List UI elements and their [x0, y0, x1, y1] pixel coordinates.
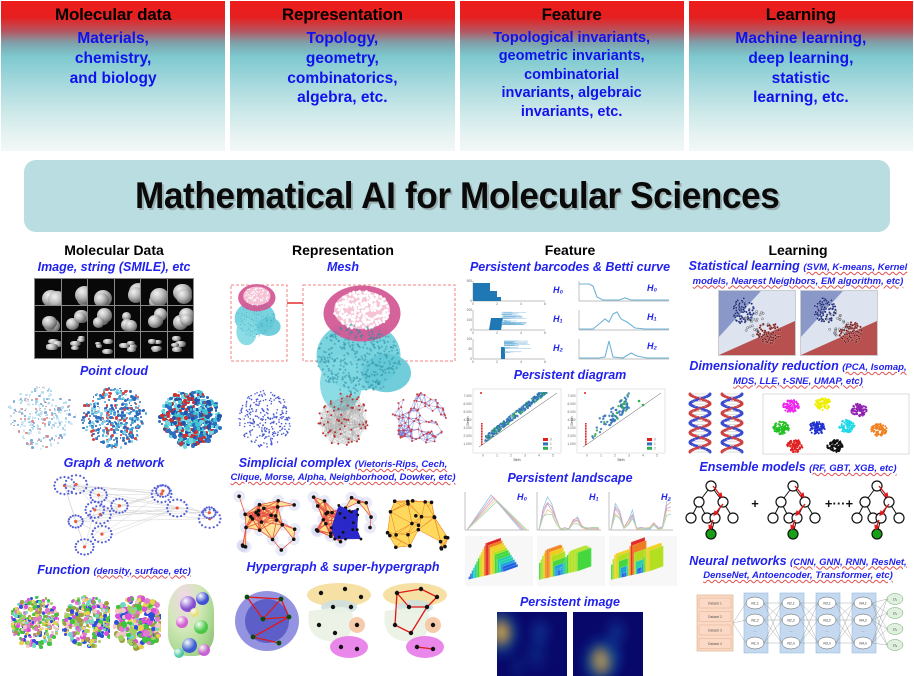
- point-cloud-atom: [44, 437, 46, 439]
- point-cloud-atom: [31, 399, 33, 401]
- point-cloud-atom: [15, 411, 17, 413]
- point-cloud-atom: [51, 418, 53, 420]
- point-cloud-atom: [38, 601, 40, 603]
- point-cloud-atom: [189, 439, 194, 444]
- function-surface-spot: [176, 616, 188, 628]
- point-cloud-atom: [199, 435, 202, 438]
- point-cloud-atom: [65, 401, 67, 403]
- point-cloud-atom: [99, 602, 103, 606]
- point-cloud-atom: [52, 399, 53, 400]
- point-cloud-atom: [32, 404, 34, 406]
- point-cloud-atom: [124, 442, 127, 445]
- point-cloud-atom: [51, 611, 53, 613]
- point-cloud-atom: [124, 390, 127, 393]
- point-cloud-atom: [137, 605, 142, 610]
- point-cloud-atom: [50, 390, 52, 392]
- dim-reduction-svg: [683, 390, 913, 458]
- point-cloud-atom: [84, 629, 88, 633]
- point-cloud-atom: [185, 425, 189, 429]
- point-cloud-atom: [102, 441, 105, 444]
- column-representation: Representation Mesh Graph Simplicial com…: [228, 240, 458, 676]
- point-cloud-atom: [82, 422, 84, 424]
- point-cloud-atom: [39, 387, 40, 388]
- point-cloud-atom: [113, 398, 115, 400]
- point-cloud-atom: [61, 436, 63, 438]
- point-cloud-atom: [47, 403, 49, 405]
- point-cloud-atom: [89, 403, 92, 406]
- section-label-ensemble-models: Ensemble models (RF, GBT, XGB, etc): [682, 459, 914, 476]
- point-cloud-atom: [91, 407, 94, 410]
- point-cloud-atom: [73, 416, 76, 419]
- point-cloud-atom: [98, 640, 101, 643]
- main-banner: Mathematical AI for Molecular Sciences: [24, 160, 890, 232]
- point-cloud-atom: [127, 606, 132, 611]
- section-label-persistent-landscape: Persistent landscape: [458, 470, 682, 486]
- point-cloud-atom: [108, 629, 109, 632]
- column-learning: Learning Statistical learning (SVM, K-me…: [682, 240, 914, 676]
- point-cloud-atom: [161, 410, 164, 413]
- point-cloud-atom: [21, 412, 23, 414]
- point-cloud-atom: [57, 407, 58, 408]
- point-cloud-atom: [135, 600, 139, 604]
- point-cloud-atom: [47, 642, 51, 646]
- page-title: Mathematical AI for Molecular Sciences: [135, 175, 780, 217]
- network-graph-svg: [2, 473, 226, 561]
- point-cloud-atom: [109, 411, 111, 413]
- point-cloud-atom: [115, 422, 117, 424]
- point-cloud-atom: [95, 614, 99, 618]
- point-cloud-atom: [44, 425, 46, 427]
- point-cloud-atom: [28, 444, 30, 446]
- point-cloud-atom: [58, 411, 60, 413]
- point-cloud-atom: [134, 437, 137, 440]
- point-cloud-atom: [118, 397, 121, 400]
- point-cloud-figures: [4, 381, 224, 453]
- point-cloud-atom: [197, 401, 200, 404]
- point-cloud-atom: [76, 637, 80, 641]
- point-cloud-atom: [38, 418, 40, 420]
- point-cloud-atom: [27, 403, 29, 405]
- point-cloud-atom: [42, 405, 44, 407]
- point-cloud-atom: [171, 411, 175, 415]
- point-cloud-atom: [33, 422, 35, 424]
- persistent-image-heatmap-1: [497, 612, 567, 676]
- function-figure-surface: [164, 580, 218, 660]
- point-cloud-atom: [20, 418, 22, 420]
- point-cloud-atom: [123, 398, 125, 400]
- point-cloud-atom: [35, 443, 38, 446]
- point-cloud-atom: [29, 424, 31, 426]
- column-feature: Feature Persistent barcodes & Betti curv…: [458, 240, 682, 676]
- function-figure-density-2: [62, 580, 110, 660]
- point-cloud-atom: [136, 425, 139, 428]
- point-cloud-atom: [103, 628, 106, 631]
- point-cloud-atom: [40, 412, 42, 414]
- point-cloud-atom: [120, 446, 123, 449]
- persistent-image-figures: [459, 612, 681, 676]
- section-label-simplicial-complex: Simplicial complex (Vietoris-Rips, Cech,…: [228, 456, 458, 484]
- point-cloud-atom: [102, 429, 105, 432]
- ensemble-svg: ++···+: [683, 478, 913, 554]
- point-cloud-atom: [128, 440, 130, 442]
- section-label-text: Persistent barcodes & Betti curve: [470, 260, 670, 274]
- svm-decision-boundary-svg: [719, 291, 795, 355]
- point-cloud-atom: [22, 615, 26, 619]
- point-cloud-atom: [121, 411, 124, 414]
- point-cloud-atom: [203, 431, 206, 434]
- point-cloud-atom: [108, 395, 111, 398]
- point-cloud-atom: [89, 415, 91, 417]
- point-cloud-atom: [93, 403, 95, 405]
- point-cloud-atom: [31, 446, 34, 449]
- point-cloud-atom: [64, 633, 67, 636]
- point-cloud-atom: [120, 437, 122, 439]
- point-cloud-atom: [104, 401, 106, 403]
- point-cloud-atom: [42, 445, 44, 447]
- molecular-image-cell: [168, 332, 194, 358]
- point-cloud-atom: [190, 393, 193, 396]
- point-cloud-atom: [126, 417, 128, 419]
- point-cloud-atom: [54, 422, 56, 424]
- point-cloud-atom: [86, 413, 89, 416]
- point-cloud-atom: [60, 409, 62, 411]
- molecular-image-cell: [141, 332, 167, 358]
- point-cloud-atom: [215, 409, 218, 412]
- point-cloud-atom: [98, 419, 100, 421]
- point-cloud-atom: [59, 398, 61, 400]
- point-cloud-atom: [150, 617, 154, 621]
- header-card-title: Molecular data: [1, 1, 225, 24]
- molecular-image-cell: [88, 332, 114, 358]
- section-label-hypergraph: Hypergraph & super-hypergraph: [228, 559, 458, 575]
- point-cloud-atom: [194, 415, 198, 419]
- point-cloud-atom: [138, 419, 140, 421]
- point-cloud-atom: [27, 400, 28, 401]
- point-cloud-atom: [108, 399, 110, 401]
- molecular-image-cell: [88, 279, 114, 305]
- point-cloud-medium: [78, 381, 150, 453]
- point-cloud-atom: [89, 617, 92, 620]
- point-cloud-atom: [86, 426, 88, 428]
- point-cloud-atom: [121, 403, 124, 406]
- point-cloud-atom: [198, 407, 201, 410]
- point-cloud-atom: [28, 432, 30, 434]
- section-sublabel-text: (density, surface, etc): [93, 566, 190, 577]
- point-cloud-atom: [139, 401, 142, 404]
- point-cloud-atom: [130, 424, 132, 426]
- point-cloud-atom: [35, 403, 37, 405]
- point-cloud-atom: [92, 605, 96, 609]
- point-cloud-atom: [91, 644, 95, 648]
- point-cloud-atom: [133, 417, 135, 419]
- point-cloud-atom: [179, 437, 183, 441]
- point-cloud-atom: [139, 645, 144, 650]
- hypergraph-figures: [229, 577, 457, 661]
- mesh-svg: [229, 277, 457, 363]
- section-label-text: Statistical learning: [689, 259, 800, 273]
- point-cloud-atom: [77, 628, 81, 632]
- point-cloud-atom: [83, 404, 86, 407]
- barcode-betti-svg: 02460500H₀02460100200H₁0246050100H₂H₀H₁H…: [459, 277, 681, 365]
- point-cloud-atom: [85, 429, 87, 431]
- point-cloud-atom: [116, 404, 118, 406]
- point-cloud-atom: [13, 425, 14, 426]
- point-cloud-atom: [22, 421, 24, 423]
- simplicial-svg: [229, 486, 457, 558]
- point-cloud-atom: [45, 446, 48, 449]
- point-cloud-atom: [50, 602, 53, 605]
- point-cloud-atom: [208, 413, 212, 417]
- section-label-text: Hypergraph & super-hypergraph: [246, 560, 439, 574]
- point-cloud-atom: [101, 396, 104, 399]
- section-label-statistical-learning: Statistical learning (SVM, K-means, Kern…: [682, 259, 914, 288]
- point-cloud-atom: [136, 430, 138, 432]
- molecular-image-cell: [35, 332, 61, 358]
- molecular-image-cell: [88, 306, 114, 332]
- point-cloud-atom: [49, 418, 51, 420]
- point-cloud-dense: [152, 381, 224, 453]
- point-cloud-atom: [44, 411, 47, 414]
- point-cloud-atom: [90, 430, 93, 433]
- point-cloud-atom: [29, 607, 33, 611]
- svm-figures: [683, 290, 913, 356]
- point-cloud-atom: [129, 435, 131, 437]
- section-label-text: Ensemble models: [699, 460, 805, 474]
- point-cloud-atom: [166, 429, 171, 434]
- point-cloud-atom: [69, 409, 71, 411]
- point-cloud-atom: [66, 413, 68, 415]
- point-cloud-atom: [125, 394, 127, 396]
- point-cloud-sparse: [4, 381, 76, 453]
- section-label-text: Dimensionality reduction: [689, 359, 838, 373]
- point-cloud-atom: [88, 422, 90, 424]
- molecular-image-cell: [62, 306, 88, 332]
- point-cloud-atom: [53, 626, 56, 629]
- point-cloud-atom: [46, 414, 48, 416]
- point-cloud-atom: [23, 429, 25, 431]
- point-cloud-atom: [83, 412, 85, 414]
- point-cloud-atom: [37, 428, 39, 430]
- point-cloud-atom: [161, 423, 164, 426]
- point-cloud-atom: [129, 390, 132, 393]
- molecular-image-grid: [34, 278, 194, 359]
- persistent-landscape-svg: H₀H₁H₂: [459, 488, 681, 594]
- point-cloud-atom: [50, 445, 52, 447]
- point-cloud-atom: [131, 440, 133, 442]
- molecular-image-cell: [168, 279, 194, 305]
- molecular-image-cell: [141, 306, 167, 332]
- point-cloud-atom: [197, 396, 200, 399]
- point-cloud-atom: [165, 405, 168, 408]
- point-cloud-atom: [57, 426, 59, 428]
- point-cloud-atom: [9, 407, 11, 409]
- point-cloud-atom: [133, 641, 137, 645]
- point-cloud-atom: [20, 402, 22, 404]
- point-cloud-atom: [48, 421, 50, 423]
- point-cloud-atom: [179, 442, 183, 446]
- point-cloud-atom: [84, 416, 86, 418]
- persistent-image-heatmap-2: [573, 612, 643, 676]
- point-cloud-atom: [35, 411, 38, 414]
- point-cloud-atom: [202, 401, 205, 404]
- point-cloud-atom: [19, 641, 23, 645]
- point-cloud-atom: [65, 421, 67, 423]
- point-cloud-atom: [56, 415, 58, 417]
- point-cloud-atom: [135, 614, 139, 618]
- column-title: Learning: [682, 242, 914, 258]
- point-cloud-atom: [12, 613, 16, 617]
- point-cloud-atom: [48, 402, 50, 404]
- point-cloud-atom: [70, 609, 74, 613]
- persistent-diagram-svg: 012BirthDeath7.0006.0005.0004.0003.0002.…: [459, 385, 681, 469]
- point-cloud-atom: [105, 435, 108, 438]
- point-cloud-atom: [20, 426, 22, 428]
- point-cloud-atom: [12, 618, 15, 621]
- point-cloud-atom: [79, 623, 83, 627]
- ensemble-models-figure: ++···+: [683, 478, 913, 554]
- point-cloud-atom: [39, 428, 41, 430]
- column-title: Molecular Data: [0, 242, 228, 258]
- point-cloud-atom: [213, 421, 218, 426]
- point-cloud-atom: [108, 438, 111, 441]
- header-card-learning: Learning Machine learning, deep learning…: [688, 0, 914, 152]
- point-cloud-atom: [99, 407, 101, 409]
- point-cloud-atom: [31, 391, 33, 393]
- point-cloud-atom: [43, 639, 47, 643]
- point-cloud-atom: [24, 415, 25, 416]
- point-cloud-atom: [183, 444, 188, 449]
- point-cloud-atom: [141, 421, 143, 423]
- point-cloud-atom: [71, 600, 74, 603]
- point-cloud-atom: [33, 617, 37, 621]
- point-cloud-atom: [64, 424, 67, 427]
- point-cloud-atom: [200, 427, 203, 430]
- point-cloud-atom: [106, 404, 108, 406]
- section-label-persistent-image: Persistent image: [458, 594, 682, 610]
- point-cloud-atom: [10, 423, 12, 425]
- section-label-mesh: Mesh: [228, 259, 458, 275]
- point-cloud-atom: [145, 412, 148, 415]
- column-title: Feature: [458, 242, 682, 258]
- point-cloud-atom: [18, 430, 20, 432]
- section-label-text: Image, string (SMILE), etc: [38, 260, 191, 274]
- point-cloud-atom: [27, 418, 29, 420]
- point-cloud-atom: [218, 426, 222, 430]
- header-card-feature: Feature Topological invariants, geometri…: [459, 0, 685, 152]
- point-cloud-atom: [116, 433, 118, 435]
- point-cloud-atom: [57, 442, 59, 444]
- section-label-point-cloud: Point cloud: [0, 363, 228, 379]
- point-cloud-atom: [24, 420, 26, 422]
- section-label-graph-network: Graph & network: [0, 455, 228, 471]
- point-cloud-atom: [10, 415, 12, 417]
- point-cloud-atom: [50, 620, 53, 623]
- section-sublabel-text: (RF, GBT, XGB, etc): [809, 463, 896, 474]
- point-cloud-atom: [105, 388, 108, 391]
- section-label-text: Persistent image: [520, 595, 620, 609]
- point-cloud-atom: [134, 397, 137, 400]
- svm-decision-boundary-svg: [801, 291, 877, 355]
- point-cloud-atom: [23, 435, 25, 437]
- point-cloud-atom: [48, 638, 52, 642]
- banner-wrap: Mathematical AI for Molecular Sciences: [0, 152, 914, 240]
- header-card-representation: Representation Topology, geometry, combi…: [229, 0, 455, 152]
- point-cloud-atom: [199, 413, 202, 416]
- section-label-text: Persistent diagram: [514, 368, 627, 382]
- point-cloud-atom: [187, 397, 191, 401]
- point-cloud-atom: [94, 641, 97, 644]
- point-cloud-atom: [40, 448, 43, 451]
- point-cloud-atom: [206, 396, 209, 399]
- graph-figures: [229, 383, 457, 455]
- point-cloud-atom: [49, 409, 52, 412]
- point-cloud-atom: [21, 400, 23, 402]
- svm-panel-2: [800, 290, 878, 356]
- point-cloud-atom: [120, 608, 125, 613]
- header-card-title: Representation: [230, 1, 454, 24]
- point-cloud-atom: [119, 419, 121, 421]
- point-cloud-atom: [115, 428, 118, 431]
- header-card-body: Topological invariants, geometric invari…: [460, 24, 684, 122]
- point-cloud-atom: [70, 619, 74, 623]
- point-cloud-atom: [85, 611, 89, 615]
- point-cloud-atom: [32, 413, 33, 414]
- point-cloud-atom: [59, 424, 61, 426]
- point-cloud-atom: [41, 391, 43, 393]
- simplicial-complex-figures: [229, 486, 457, 558]
- point-cloud-atom: [107, 423, 109, 425]
- section-label-neural-networks: Neural networks (CNN, GNN, RNN, ResNet, …: [682, 554, 914, 583]
- point-cloud-atom: [120, 434, 122, 436]
- function-surface-spot: [196, 592, 209, 605]
- graph-network-figure: [2, 473, 226, 561]
- header-card-body: Materials, chemistry, and biology: [1, 24, 225, 88]
- point-cloud-atom: [155, 623, 160, 628]
- header-card-body: Topology, geometry, combinatorics, algeb…: [230, 24, 454, 108]
- point-cloud-atom: [43, 386, 45, 388]
- neural-network-svg: Dataset 1Dataset 2Dataset 3Dataset 4N1,1…: [683, 585, 913, 663]
- point-cloud-atom: [39, 432, 41, 434]
- point-cloud-atom: [50, 394, 52, 396]
- point-cloud-atom: [140, 416, 142, 418]
- point-cloud-atom: [180, 412, 184, 416]
- section-label-image-string: Image, string (SMILE), etc: [0, 259, 228, 275]
- mesh-figure: [229, 277, 457, 363]
- point-cloud-atom: [65, 417, 67, 419]
- point-cloud-atom: [68, 405, 70, 407]
- section-label-text: Neural networks: [689, 554, 786, 568]
- header-card-body: Machine learning, deep learning, statist…: [689, 24, 913, 108]
- point-cloud-atom: [48, 423, 50, 425]
- molecular-image-cell: [168, 306, 194, 332]
- section-label-dimensionality-reduction: Dimensionality reduction (PCA, Isomap, M…: [682, 359, 914, 388]
- section-label-text: Function: [37, 563, 90, 577]
- molecular-image-cell: [62, 279, 88, 305]
- point-cloud-atom: [74, 632, 77, 635]
- point-cloud-atom: [68, 399, 70, 401]
- point-cloud-atom: [35, 608, 38, 611]
- section-label-text: Simplicial complex: [239, 456, 352, 470]
- function-surface-spot: [174, 648, 184, 658]
- point-cloud-atom: [93, 423, 95, 425]
- point-cloud-atom: [54, 439, 56, 441]
- point-cloud-atom: [13, 412, 15, 414]
- persistent-landscape-figure: H₀H₁H₂: [459, 488, 681, 594]
- point-cloud-atom: [106, 414, 108, 416]
- point-cloud-atom: [86, 602, 90, 606]
- point-cloud-atom: [113, 439, 115, 441]
- point-cloud-atom: [97, 432, 99, 434]
